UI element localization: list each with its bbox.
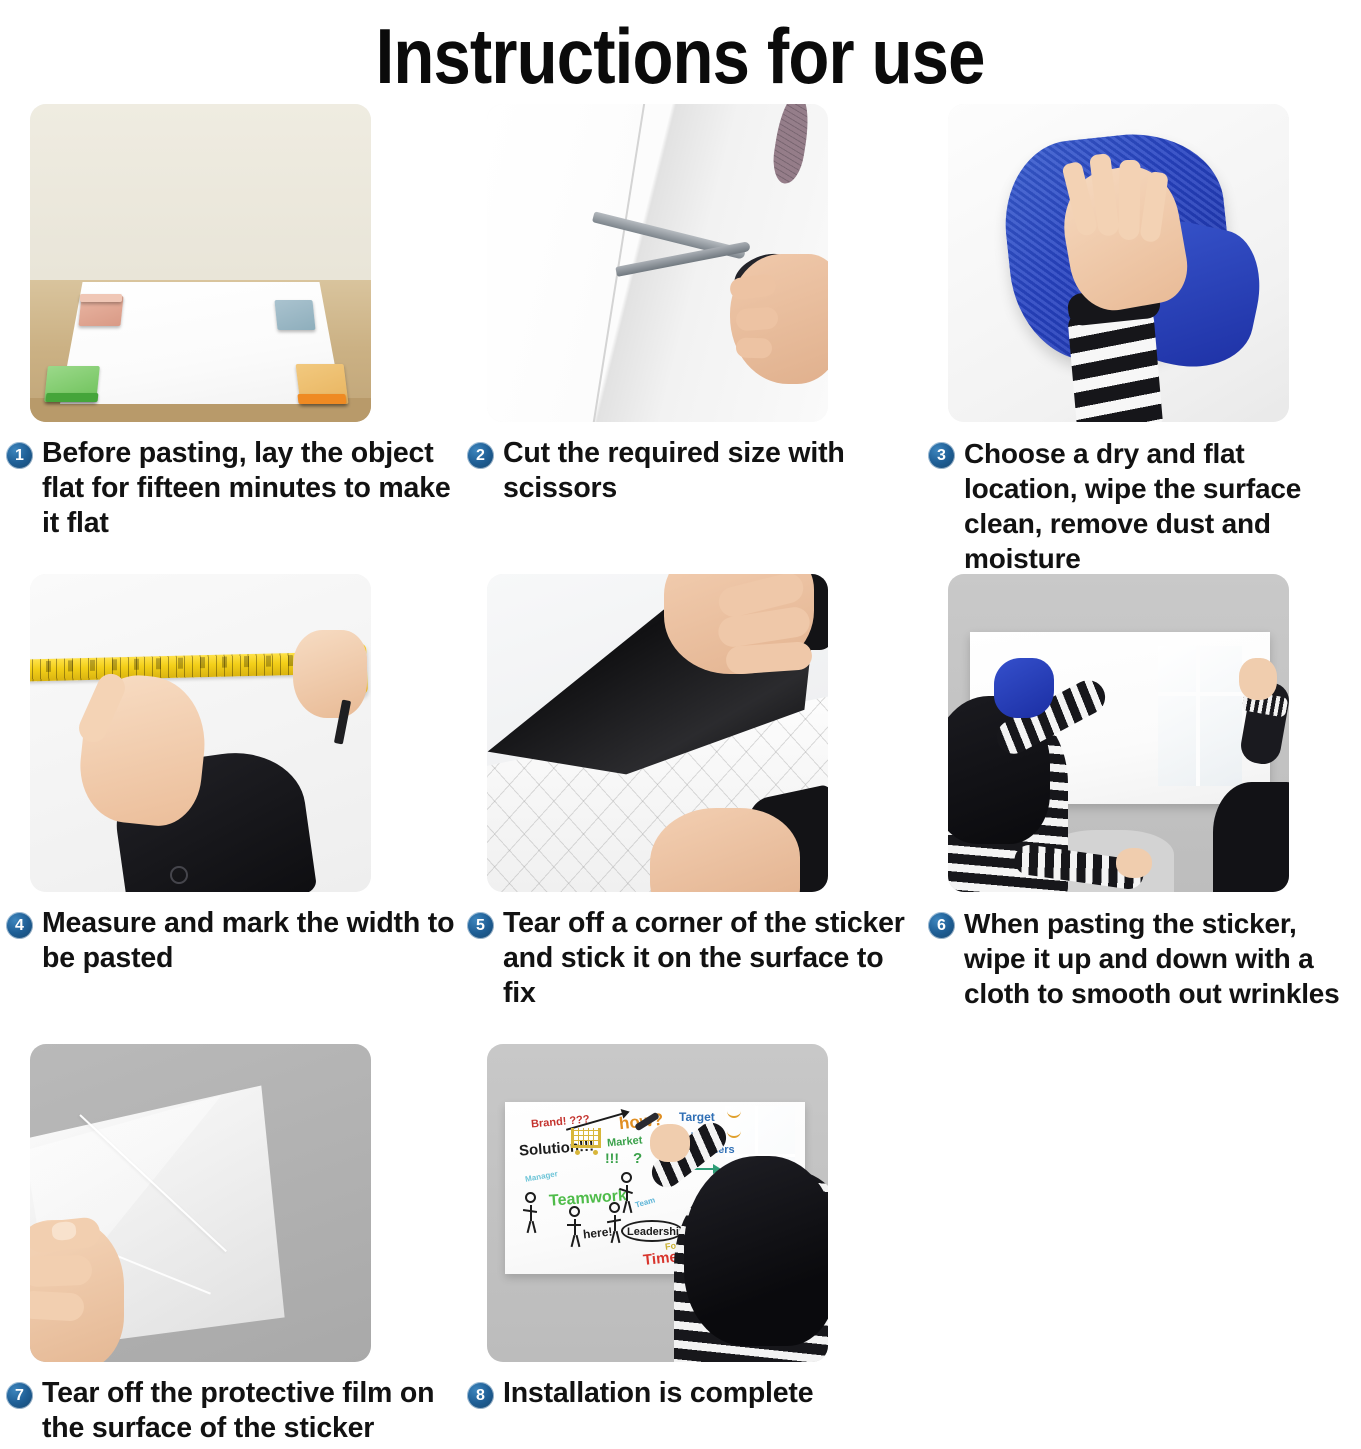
page-title-area: Instructions for use	[0, 0, 1361, 104]
step-badge-6: 6	[928, 912, 955, 939]
step-text-7: Tear off the protective film on the surf…	[42, 1376, 455, 1446]
whiteboard-note-market-excl: !!!	[605, 1150, 619, 1166]
step-badge-1: 1	[6, 442, 33, 469]
step-item-5: 5 Tear off a corner of the sticker and s…	[455, 574, 910, 1044]
photo-two-people-mounting-sheet	[948, 574, 1289, 892]
step-caption-5: 5 Tear off a corner of the sticker and s…	[455, 906, 910, 1011]
page-title: Instructions for use	[376, 8, 985, 104]
step-caption-7: 7 Tear off the protective film on the su…	[0, 1376, 455, 1446]
step-caption-3: 3 Choose a dry and flat location, wipe t…	[910, 436, 1361, 576]
step-text-5: Tear off a corner of the sticker and sti…	[503, 906, 910, 1011]
step-caption-6: 6 When pasting the sticker, wipe it up a…	[910, 906, 1361, 1011]
step-item-1: 1 Before pasting, lay the object flat fo…	[0, 104, 455, 574]
step-caption-4: 4 Measure and mark the width to be paste…	[0, 906, 455, 976]
step-item-8: Brand! ??? Solution!!! how? Market !!! ?…	[455, 1044, 910, 1444]
photo-peeling-sticker-corner	[487, 574, 828, 892]
photo-finished-whiteboard-in-use: Brand! ??? Solution!!! how? Market !!! ?…	[487, 1044, 828, 1362]
photo-measuring-with-tape	[30, 574, 371, 892]
shopping-cart-icon	[571, 1128, 601, 1148]
photo-wiping-wall-with-cloth	[948, 104, 1289, 422]
step-text-3: Choose a dry and flat location, wipe the…	[964, 436, 1361, 576]
step-text-8: Installation is complete	[503, 1376, 813, 1411]
step-item-4: 4 Measure and mark the width to be paste…	[0, 574, 455, 1044]
step-item-6: 6 When pasting the sticker, wipe it up a…	[910, 574, 1361, 1044]
step-badge-4: 4	[6, 912, 33, 939]
step-badge-3: 3	[928, 442, 955, 469]
step-item-3: 3 Choose a dry and flat location, wipe t…	[910, 104, 1361, 574]
step-text-4: Measure and mark the width to be pasted	[42, 906, 455, 976]
step-text-6: When pasting the sticker, wipe it up and…	[964, 906, 1361, 1011]
step-text-2: Cut the required size with scissors	[503, 436, 910, 506]
step-badge-8: 8	[467, 1382, 494, 1409]
step-caption-1: 1 Before pasting, lay the object flat fo…	[0, 436, 455, 541]
photo-cutting-with-scissors	[487, 104, 828, 422]
instructions-page: Instructions for use 1 Before pasting, l…	[0, 0, 1361, 1449]
step-badge-2: 2	[467, 442, 494, 469]
whiteboard-note-market-question: ?	[633, 1150, 642, 1167]
step-caption-2: 2 Cut the required size with scissors	[455, 436, 910, 506]
grid-empty-cell	[910, 1044, 1361, 1444]
step-caption-8: 8 Installation is complete	[455, 1376, 910, 1411]
step-item-7: 7 Tear off the protective film on the su…	[0, 1044, 455, 1444]
step-badge-7: 7	[6, 1382, 33, 1409]
photo-peeling-protective-film	[30, 1044, 371, 1362]
photo-sheet-flat-on-table	[30, 104, 371, 422]
step-badge-5: 5	[467, 912, 494, 939]
step-item-2: 2 Cut the required size with scissors	[455, 104, 910, 574]
step-text-1: Before pasting, lay the object flat for …	[42, 436, 455, 541]
steps-grid: 1 Before pasting, lay the object flat fo…	[0, 104, 1361, 1444]
